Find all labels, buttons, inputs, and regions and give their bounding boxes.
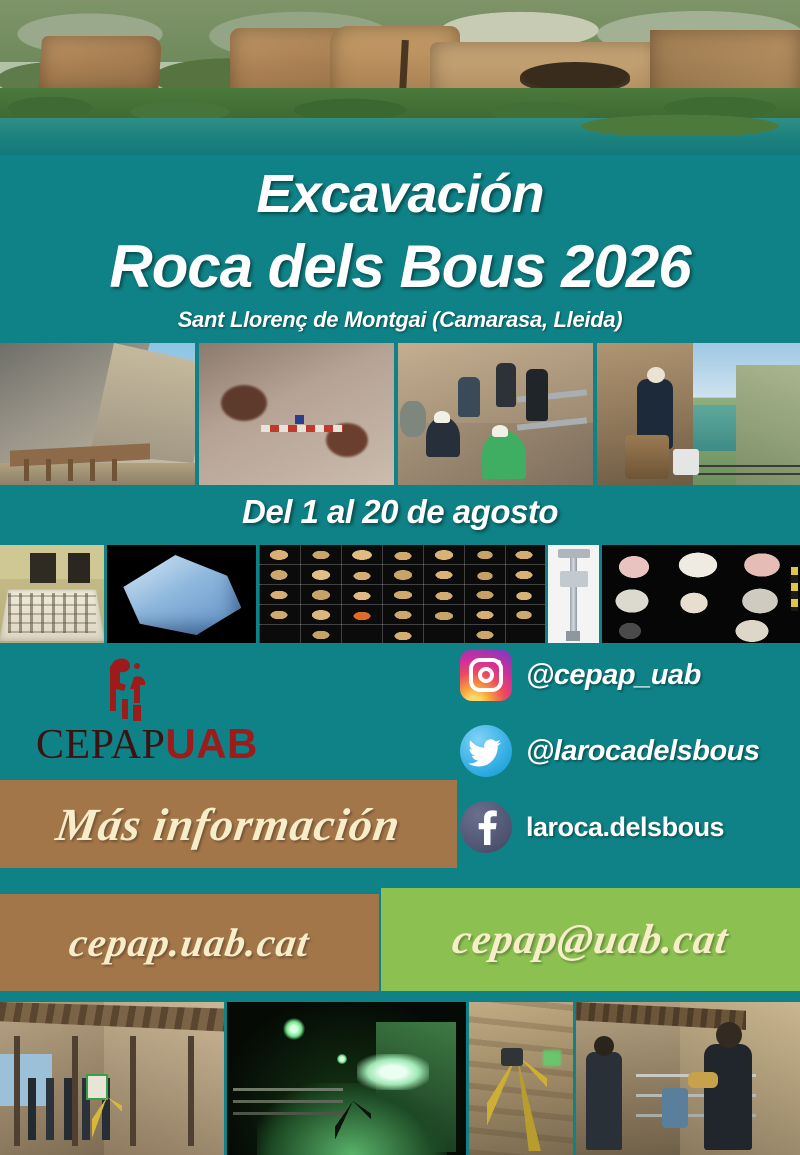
email-address[interactable]: cepap@uab.cat (374, 888, 800, 991)
person-standing-2 (526, 369, 548, 421)
lab-room (0, 545, 104, 643)
person-crouching-green (482, 431, 526, 479)
scan-background (107, 545, 256, 643)
student-right (704, 1044, 752, 1150)
photo-stone-tools-collection (602, 545, 800, 643)
stratigraphy-scene (469, 1002, 573, 1155)
walkway-fence (693, 465, 800, 467)
person-standing-3 (458, 377, 480, 417)
scale-bar (261, 425, 343, 432)
more-info-label: Más información (0, 780, 463, 868)
survey-tripod (92, 1097, 122, 1151)
email-box[interactable]: cepap@uab.cat (381, 888, 800, 991)
hero-far-bank (560, 112, 800, 136)
lab-doorway-left (30, 553, 56, 583)
stone-tools-plate (602, 545, 800, 643)
social-row-facebook[interactable]: laroca.delsbous (460, 800, 790, 854)
caliper-tip (566, 631, 580, 641)
yellow-survey-tripod (487, 1055, 547, 1151)
facebook-handle[interactable]: laroca.delsbous (526, 812, 724, 843)
student-right-arm-notebook (688, 1072, 718, 1088)
photo-artifact-grid-catalogue (259, 545, 544, 643)
twitter-handle[interactable]: @larocadelsbous (526, 735, 760, 768)
sediment-stain-left (221, 385, 267, 421)
rock-shelter-scene (0, 343, 195, 485)
twitter-icon[interactable] (460, 725, 512, 777)
instagram-handle[interactable]: @cepap_uab (526, 659, 701, 692)
person-standing-1 (496, 363, 516, 407)
excavation-team-scene (398, 343, 593, 485)
bucket (673, 449, 699, 475)
sieving-scene (597, 343, 800, 485)
photo-rock-shelter-platform (0, 343, 195, 485)
caliper-beam (570, 549, 577, 641)
person-crouching-1 (426, 417, 460, 457)
logo-uab-text: UAB (165, 720, 258, 767)
three-d-scanned-flint (123, 555, 241, 635)
walkway-railing (233, 1088, 343, 1091)
more-info-banner: Más información (0, 780, 457, 868)
sheltered-site-scene (0, 1002, 224, 1155)
caliper-background (548, 545, 600, 643)
person-head (647, 367, 665, 383)
photo-students-working-site (576, 1002, 800, 1155)
student-right-head (716, 1022, 742, 1048)
photo-night-laser-scanning (227, 1002, 466, 1155)
boulder (400, 401, 426, 437)
backpack (662, 1088, 688, 1128)
artifact-grid (259, 545, 544, 643)
excavation-surface (199, 343, 394, 485)
lamp-distant (337, 1054, 347, 1064)
title-block: Excavación Roca dels Bous 2026 Sant Llor… (0, 155, 800, 343)
photo-strip-fieldwork (0, 1002, 800, 1155)
total-station-head (501, 1048, 523, 1066)
logo-cepap-text: CEPAP (36, 722, 165, 768)
website-box[interactable]: cepap.uab.cat (0, 894, 379, 991)
photo-survey-tripod-stratigraphy (469, 1002, 573, 1155)
photo-strip-excavation (0, 343, 800, 485)
instagram-icon[interactable] (460, 649, 512, 701)
lab-doorway-right (68, 553, 90, 583)
photo-excavation-surface-scale-bar (199, 343, 394, 485)
blue-marker (295, 415, 304, 424)
caliper-slider (560, 571, 588, 587)
light-source-glow (357, 1054, 429, 1090)
photo-scale-bar (791, 567, 798, 611)
photo-team-excavating (398, 343, 593, 485)
night-scene (227, 1002, 466, 1155)
hero-landscape-photo (0, 0, 800, 155)
facebook-icon[interactable] (460, 801, 512, 853)
poster-root: Excavación Roca dels Bous 2026 Sant Llor… (0, 0, 800, 1155)
caliper-jaw (558, 549, 590, 558)
social-media-list: @cepap_uab @larocadelsbous laroca.delsbo… (460, 648, 790, 876)
website-url[interactable]: cepap.uab.cat (0, 894, 386, 991)
students-scene (576, 1002, 800, 1155)
dates-text: Del 1 al 20 de agosto (242, 485, 558, 531)
photo-lab-artifact-table (0, 545, 104, 643)
water-barrel (625, 435, 669, 479)
platform-legs (24, 459, 134, 481)
instagram-dot (496, 660, 501, 665)
sun-hat-1 (434, 411, 450, 423)
hero-cliff-left (38, 36, 162, 96)
sun-hat-2 (492, 425, 508, 437)
poster-subtitle-location: Sant Llorenç de Montgai (Camarasa, Lleid… (0, 297, 800, 333)
instagram-lens (478, 667, 494, 683)
logo-wordmark: CEPAPUAB (36, 723, 258, 766)
far-hillside (736, 365, 800, 485)
lamp-bright (283, 1018, 305, 1040)
poster-title-line1: Excavación (0, 155, 800, 221)
social-row-twitter[interactable]: @larocadelsbous (460, 724, 790, 778)
student-left-head (594, 1036, 614, 1056)
student-left (586, 1052, 622, 1150)
photo-3d-scan-lithic (107, 545, 256, 643)
rock-art-human-figure-icon (100, 655, 162, 727)
photo-sieving-by-river (597, 343, 800, 485)
photo-site-under-shelter-visitors (0, 1002, 224, 1155)
photo-strip-lab-materials (0, 545, 800, 643)
social-row-instagram[interactable]: @cepap_uab (460, 648, 790, 702)
dates-bar: Del 1 al 20 de agosto (0, 485, 800, 543)
photo-digital-caliper (548, 545, 600, 643)
poster-title-line2: Roca dels Bous 2026 (0, 221, 800, 297)
cepap-uab-logo: CEPAPUAB (22, 655, 282, 775)
laser-scanner-tripod (335, 1101, 371, 1153)
laid-out-artifacts (8, 593, 96, 633)
